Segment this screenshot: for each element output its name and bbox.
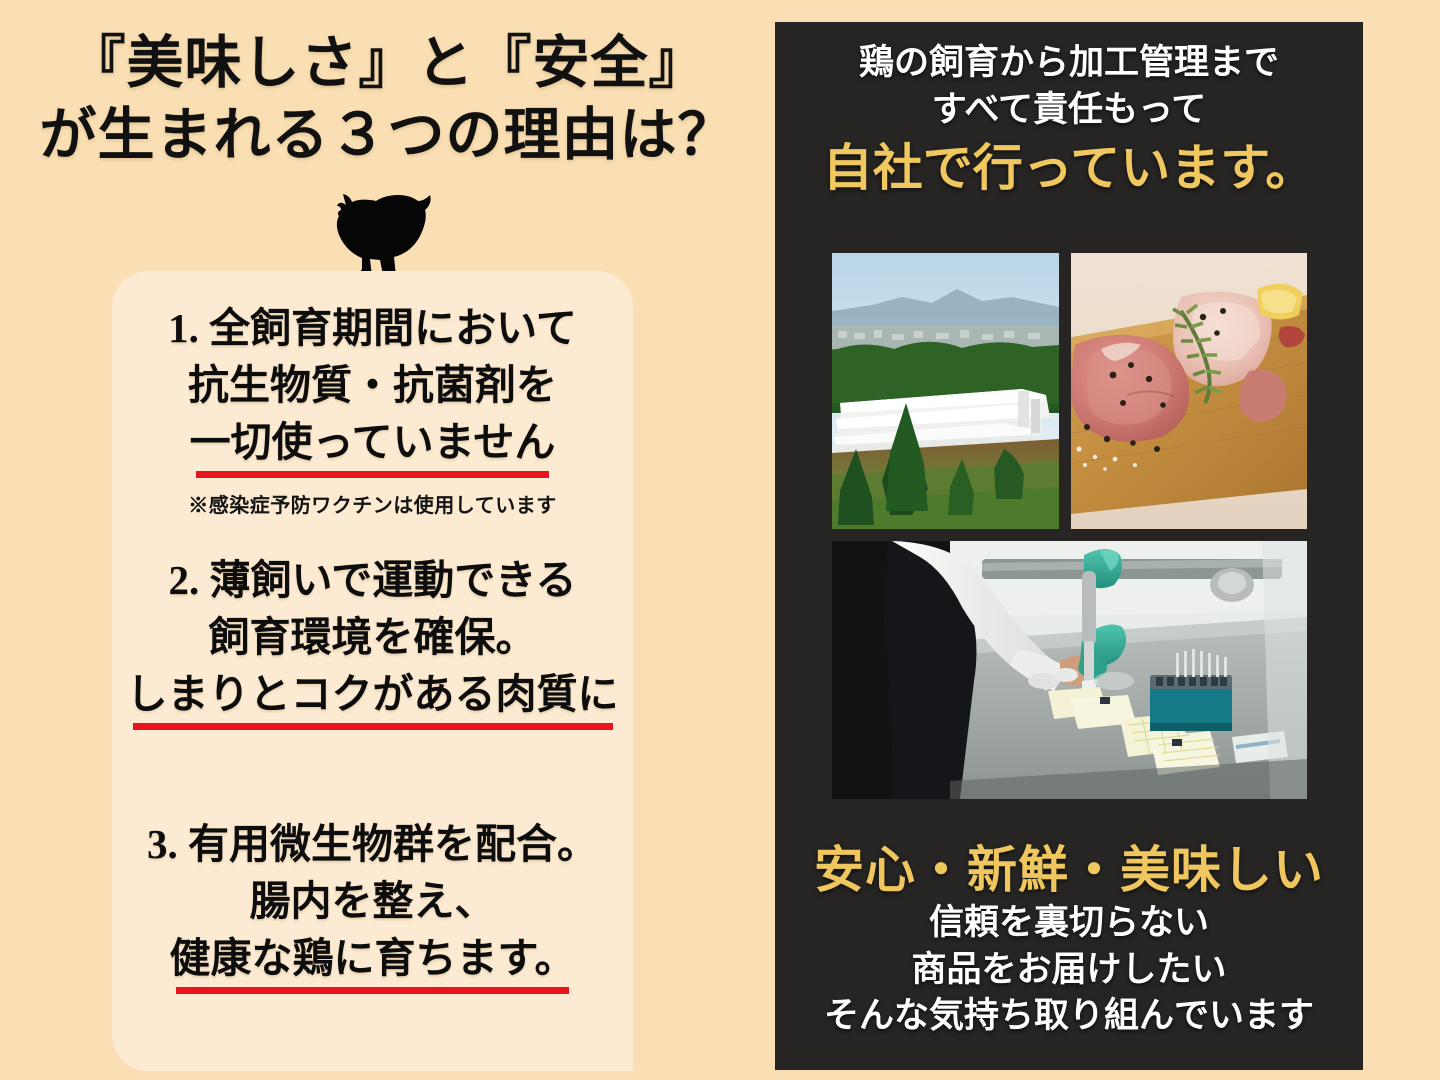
reason-3-line-2: 腸内を整え、: [112, 873, 633, 930]
panel-footer-line-3: そんな気持ち取り組んでいます: [775, 993, 1363, 1040]
panel-header-line-1: 鶏の飼育から加工管理まで: [775, 40, 1363, 87]
headline-line-2: が生まれる３つの理由は？: [0, 100, 775, 172]
company-panel: 鶏の飼育から加工管理まで すべて責任もって 自社で行っています。: [775, 22, 1363, 1070]
panel-header-accent: 自社で行っています。: [775, 137, 1363, 199]
reason-2-line-1: 2. 薄飼いで運動できる: [112, 552, 633, 609]
reason-1-emphasis: 一切使っていません: [190, 414, 556, 474]
farm-aerial-photo: [832, 253, 1059, 529]
reason-item-1: 1. 全飼育期間において 抗生物質・抗菌剤を 一切使っていません ※感染症予防ワ…: [112, 300, 633, 518]
reason-3-line-1: 3. 有用微生物群を配合。: [112, 816, 633, 873]
reason-1-note: ※感染症予防ワクチンは使用しています: [112, 489, 633, 518]
reason-2-emphasis-wrap: しまりとコクがある肉質に: [112, 666, 633, 726]
chicken-icon: [328, 183, 448, 281]
panel-footer-line-1: 信頼を裏切らない: [775, 900, 1363, 947]
panel-header-line-2: すべて責任もって: [775, 87, 1363, 134]
reason-3-emphasis: 健康な鶏に育ちます。: [170, 930, 576, 990]
left-column: 『美味しさ』と『安全』 が生まれる３つの理由は？ 1. 全飼育期間において 抗生…: [0, 0, 775, 1080]
reason-1-emphasis-wrap: 一切使っていません: [112, 414, 633, 474]
panel-footer-accent: 安心・新鮮・美味しい: [775, 840, 1363, 900]
reason-2-line-2: 飼育環境を確保。: [112, 609, 633, 666]
headline-line-1: 『美味しさ』と『安全』: [0, 28, 775, 100]
reason-1-line-1: 1. 全飼育期間において: [112, 300, 633, 357]
reason-item-3: 3. 有用微生物群を配合。 腸内を整え、 健康な鶏に育ちます。: [112, 816, 633, 990]
page-title: 『美味しさ』と『安全』 が生まれる３つの理由は？: [0, 28, 775, 172]
panel-footer-line-2: 商品をお届けしたい: [775, 947, 1363, 994]
reason-1-line-2: 抗生物質・抗菌剤を: [112, 357, 633, 414]
reason-item-2: 2. 薄飼いで運動できる 飼育環境を確保。 しまりとコクがある肉質に: [112, 552, 633, 726]
raw-chicken-meat-photo: [1071, 253, 1307, 529]
reasons-card: 1. 全飼育期間において 抗生物質・抗菌剤を 一切使っていません ※感染症予防ワ…: [112, 271, 633, 1071]
lab-inspection-photo: [832, 541, 1307, 799]
reason-2-emphasis: しまりとコクがある肉質に: [127, 666, 619, 726]
panel-header: 鶏の飼育から加工管理まで すべて責任もって 自社で行っています。: [775, 40, 1363, 199]
reason-3-emphasis-wrap: 健康な鶏に育ちます。: [112, 930, 633, 990]
panel-footer: 安心・新鮮・美味しい 信頼を裏切らない 商品をお届けしたい そんな気持ち取り組ん…: [775, 840, 1363, 1040]
